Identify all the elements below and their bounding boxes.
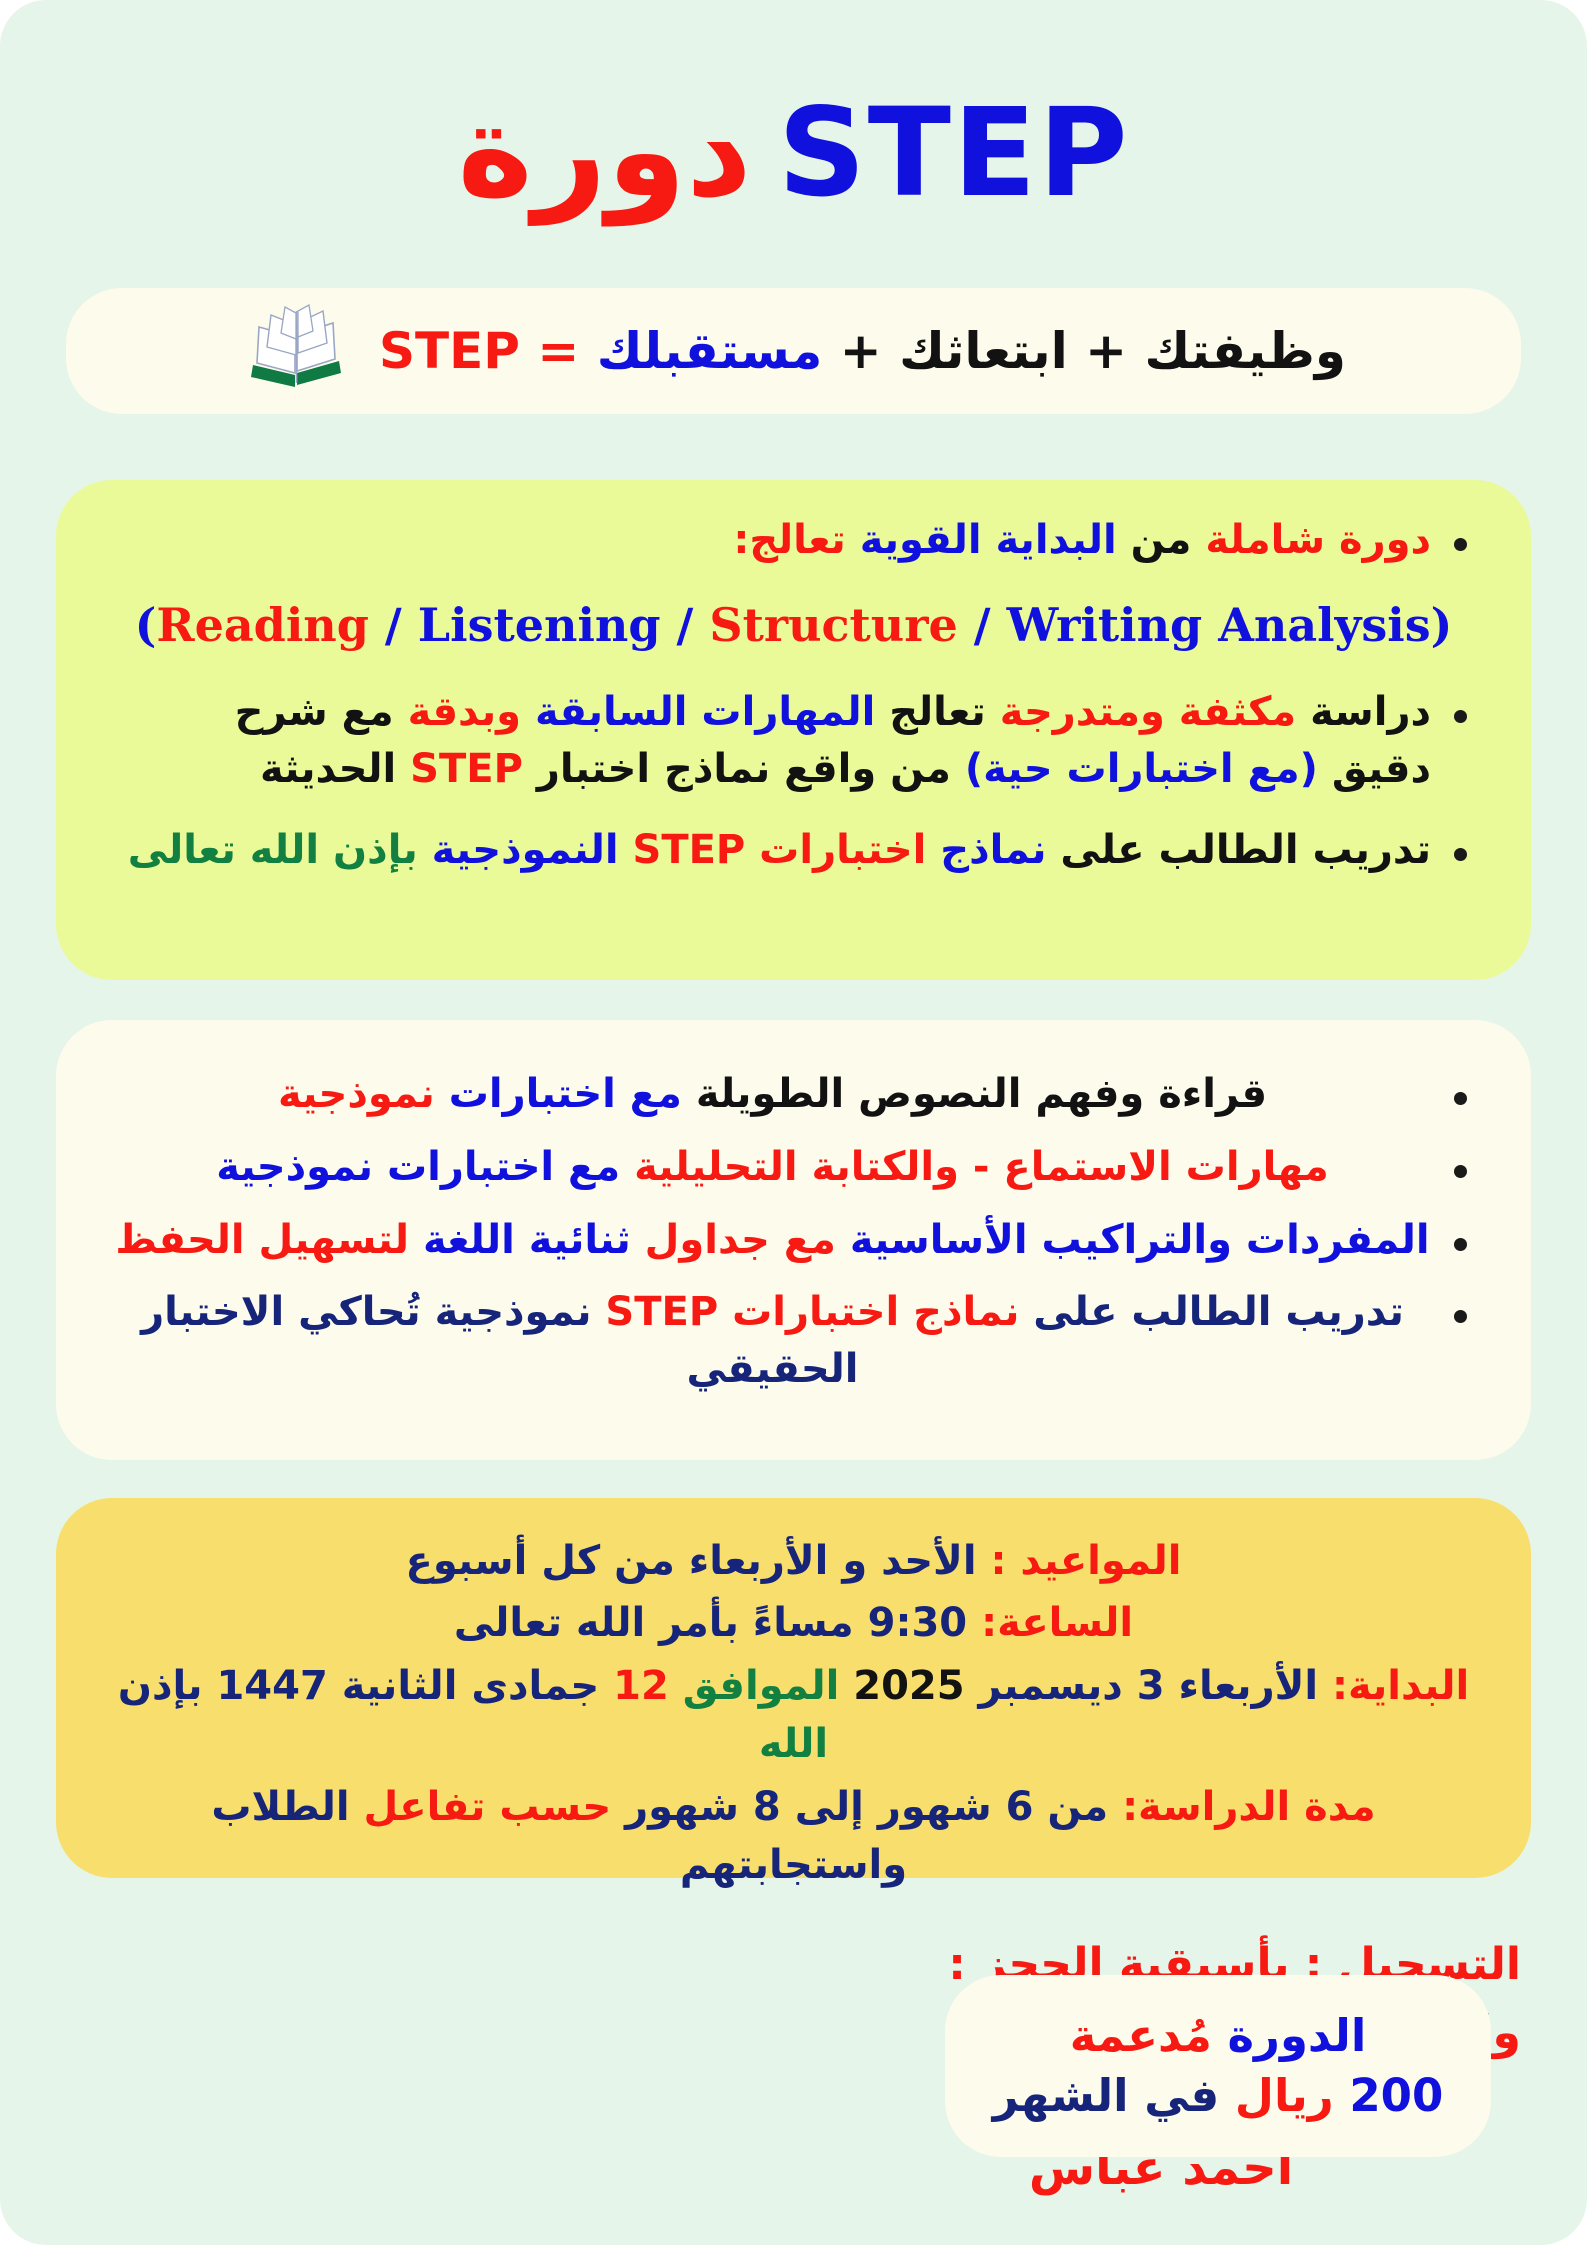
skills-sep-2: / <box>661 598 710 652</box>
cream-b1-blue-1: مع اختبارات <box>449 1071 682 1117</box>
page-title: STEPدورة <box>0 88 1587 216</box>
skills-line-item: (Reading / Listening / Structure / Writi… <box>114 593 1473 658</box>
lime-b1-blue-1: البداية القوية <box>860 517 1117 563</box>
schedule-row-duration: مدة الدراسة: من 6 شهور إلى 8 شهور حسب تف… <box>114 1778 1473 1895</box>
cream-b3-red-2: لتسهيل الحفظ <box>115 1217 409 1263</box>
subtitle-card: وظيفتك + ابتعاثك + مستقبلك = STEP <box>66 288 1521 414</box>
cream-b4-red-1: نماذج اختبارات STEP <box>605 1289 1019 1335</box>
cream-b2-blue-1: مع اختبارات نموذجية <box>216 1144 620 1190</box>
list-item: المفردات والتراكيب الأساسية مع جداول ثنا… <box>114 1212 1473 1269</box>
schedule-start-hijri-day: 12 <box>613 1663 669 1709</box>
schedule-label-start: البداية: <box>1332 1663 1469 1709</box>
list-item: تدريب الطالب على نماذج اختبارات STEP الن… <box>114 822 1473 879</box>
skills-sep-3: / <box>958 598 1007 652</box>
list-item: قراءة وفهم النصوص الطويلة مع اختبارات نم… <box>114 1066 1473 1123</box>
lime-b2l1-black-2: تعالج <box>889 689 985 735</box>
subtitle-plus: + <box>840 322 882 380</box>
lime-b2l1-red-2: وبدقة <box>408 689 521 735</box>
schedule-label-dates: المواعيد : <box>990 1538 1181 1584</box>
lime-b2l1-red-1: مكثفة ومتدرجة <box>1000 689 1297 735</box>
skills-line: (Reading / Listening / Structure / Writi… <box>114 593 1473 658</box>
subtitle-part-red: STEP <box>379 322 520 380</box>
subtitle-part-blue: مستقبلك <box>597 322 823 380</box>
price-currency: ريال <box>1235 2069 1334 2122</box>
schedule-label-time: الساعة: <box>981 1600 1133 1646</box>
schedule-duration-part-1: من 6 شهور إلى 8 شهور <box>625 1784 1108 1830</box>
cream-features-card: قراءة وفهم النصوص الطويلة مع اختبارات نم… <box>56 1020 1531 1460</box>
skills-close-paren: ) <box>1431 598 1453 652</box>
title-arabic: دورة <box>457 77 752 226</box>
subtitle-text: وظيفتك + ابتعاثك + مستقبلك = STEP <box>379 326 1346 376</box>
list-item: دراسة مكثفة ومتدرجة تعالج المهارات الساب… <box>114 684 1473 798</box>
schedule-label-duration: مدة الدراسة: <box>1122 1784 1376 1830</box>
lime-b1-red-2: تعالج: <box>733 517 845 563</box>
lime-b2l2-blue-1: (مع اختبارات حية) <box>965 746 1318 792</box>
cream-b3-blue-2: ثنائية اللغة <box>423 1217 631 1263</box>
title-english: STEP <box>778 82 1130 224</box>
skills-open-paren: ( <box>135 598 157 652</box>
list-item: مهارات الاستماع - والكتابة التحليلية مع … <box>114 1139 1473 1196</box>
schedule-value-time: 9:30 <box>868 1600 968 1646</box>
price-line-2: 200 ريال في الشهر <box>993 2066 1444 2126</box>
price-subsidized-word: مُدعمة <box>1070 2009 1212 2062</box>
price-period: في الشهر <box>993 2069 1219 2122</box>
schedule-start-year: 2025 <box>853 1663 964 1709</box>
lime-b3-green-1: بإذن الله تعالى <box>128 827 418 873</box>
schedule-row-time: الساعة: 9:30 مساءً بأمر الله تعالى <box>114 1594 1473 1652</box>
schedule-card: المواعيد : الأحد و الأربعاء من كل أسبوع … <box>56 1498 1531 1878</box>
lime-bullet-list: دورة شاملة من البداية القوية تعالج: (Rea… <box>114 512 1473 879</box>
cream-b2-red-1: مهارات الاستماع - والكتابة التحليلية <box>634 1144 1329 1190</box>
schedule-start-blessing-2: الله <box>759 1721 828 1767</box>
lime-b1-black-1: من <box>1131 517 1192 563</box>
open-book-icon <box>241 303 353 399</box>
lime-b3-blue-2: النموذجية <box>432 827 619 873</box>
price-card: الدورة مُدعمة 200 ريال في الشهر <box>945 1975 1491 2157</box>
schedule-value-dates: الأحد و الأربعاء من كل أسبوع <box>406 1538 977 1584</box>
lime-features-card: دورة شاملة من البداية القوية تعالج: (Rea… <box>56 480 1531 980</box>
skill-reading: Reading <box>156 598 369 652</box>
cream-b4-navy-1: تدريب الطالب على <box>1033 1289 1404 1335</box>
subtitle-part-black-1: وظيفتك + ابتعاثك <box>899 322 1346 380</box>
cream-b1-black-1: قراءة وفهم النصوص الطويلة <box>696 1071 1267 1117</box>
skill-listening: Listening <box>418 598 661 652</box>
skills-sep-1: / <box>369 598 418 652</box>
poster-root: STEPدورة وظيفتك + ابتعاثك + مستقبلك = ST… <box>0 0 1587 2245</box>
schedule-start-gregorian: الأربعاء 3 ديسمبر <box>979 1663 1319 1709</box>
price-amount: 200 <box>1349 2069 1443 2122</box>
cream-b3-red-1: مع جداول <box>645 1217 836 1263</box>
price-line-1: الدورة مُدعمة <box>1070 2006 1367 2066</box>
lime-b2l2-black-1: دقيق <box>1332 746 1431 792</box>
list-item: تدريب الطالب على نماذج اختبارات STEP نمو… <box>114 1284 1473 1398</box>
lime-b2l2-black-2: من واقع نماذج اختبار <box>537 746 951 792</box>
lime-b2l1-blue-1: المهارات السابقة <box>535 689 875 735</box>
cream-b1-red-1: نموذجية <box>278 1071 435 1117</box>
lime-b3-black-1: تدريب الطالب على <box>1060 827 1431 873</box>
price-course-word: الدورة <box>1227 2009 1366 2062</box>
skill-writing-analysis: Writing Analysis <box>1007 598 1431 652</box>
skill-structure: Structure <box>709 598 957 652</box>
subtitle-equals: = <box>537 322 579 380</box>
lime-b3-blue-1: نماذج <box>940 827 1046 873</box>
schedule-value-time-note: مساءً بأمر الله تعالى <box>454 1600 854 1646</box>
schedule-start-blessing-1: بإذن <box>118 1663 203 1709</box>
schedule-start-hijri-rest: جمادى الثانية 1447 <box>216 1663 599 1709</box>
lime-b2l1-black-1: دراسة <box>1310 689 1431 735</box>
lime-b3-red-1: اختبارات STEP <box>633 827 927 873</box>
list-item: دورة شاملة من البداية القوية تعالج: <box>114 512 1473 569</box>
schedule-row-dates: المواعيد : الأحد و الأربعاء من كل أسبوع <box>114 1532 1473 1590</box>
schedule-start-corresponding: الموافق <box>683 1663 840 1709</box>
cream-b3-blue-1: المفردات والتراكيب الأساسية <box>850 1217 1430 1263</box>
lime-b2l1-black-3: مع شرح <box>235 689 394 735</box>
cream-bullet-list: قراءة وفهم النصوص الطويلة مع اختبارات نم… <box>114 1066 1473 1398</box>
schedule-row-start: البداية: الأربعاء 3 ديسمبر 2025 الموافق … <box>114 1657 1473 1774</box>
lime-b2l2-red-1: STEP <box>410 746 523 792</box>
lime-b2l2-black-3: الحديثة <box>260 746 396 792</box>
schedule-duration-part-red: حسب تفاعل <box>364 1784 612 1830</box>
lime-b1-red-1: دورة شاملة <box>1205 517 1431 563</box>
